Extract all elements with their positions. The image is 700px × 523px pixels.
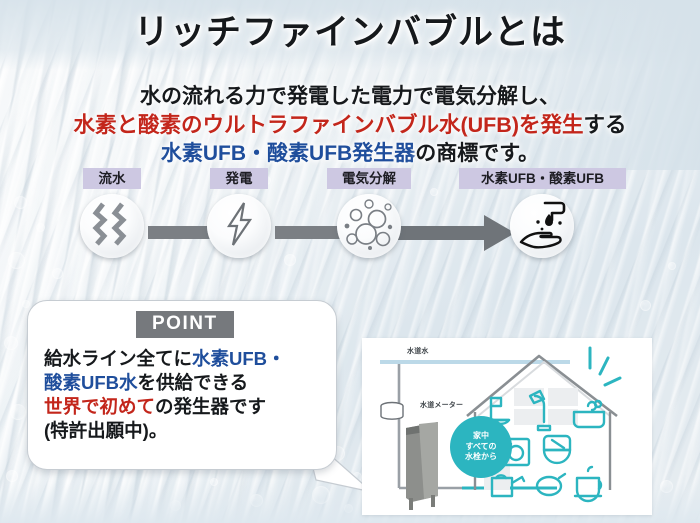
point-line-4-black: (特許出願中)。 — [44, 420, 167, 441]
badge-line-1: 家中 — [473, 431, 489, 442]
point-text: 給水ライン全てに水素UFB・ 酸素UFB水を供給できる 世界で初めての発生器です… — [44, 347, 326, 443]
point-line-2-black: を供給できる — [138, 372, 249, 393]
bathtub-icon — [574, 401, 604, 427]
hand-water-drop-icon — [515, 198, 569, 255]
flow-step-circle-1 — [80, 194, 144, 258]
point-line-1-black: 給水ライン全てに — [44, 348, 192, 369]
lead-line-3-blue: 水素UFB・酸素UFB発生器 — [161, 142, 415, 165]
point-line-3: 世界で初めての発生器です — [44, 395, 326, 419]
window-pane — [548, 388, 578, 406]
flow-step-circle-3 — [337, 194, 401, 258]
flow-step-circle-2 — [207, 194, 271, 258]
window-pane — [514, 409, 544, 425]
point-line-1: 給水ライン全てに水素UFB・ — [44, 347, 326, 371]
flow-step-label-2: 発電 — [210, 168, 268, 189]
coffee-cup-icon — [575, 467, 601, 501]
kettle-icon — [537, 474, 565, 495]
point-line-4: (特許出願中)。 — [44, 419, 326, 443]
point-line-1-blue: 水素UFB・ — [192, 348, 286, 369]
point-line-2-blue: 酸素UFB水 — [44, 372, 138, 393]
page-title: リッチファインバブルとは — [0, 4, 700, 55]
all-faucets-badge: 家中 すべての 水栓から — [450, 416, 512, 478]
point-callout: POINT 給水ライン全てに水素UFB・ 酸素UFB水を供給できる 世界で初めて… — [27, 300, 337, 470]
sparkle-icon — [590, 348, 620, 385]
slide-canvas: リッチファインバブルとは 水の流れる力で発電した電力で電気分解し、 水素と酸素の… — [0, 0, 700, 523]
washbasin-icon — [544, 436, 570, 463]
tap-water-label: 水道水 — [407, 346, 429, 356]
flowing-water-icon — [91, 202, 133, 251]
lead-line-2: 水素と酸素のウルトラファインバブル水(UFB)を発生する — [0, 111, 700, 140]
lightning-bolt-icon — [224, 201, 254, 252]
lead-line-1-text: 水の流れる力で発電した電力で電気分解し、 — [140, 85, 560, 108]
house-diagram: 水道水 水道メーター 家中 すべての 水栓から — [362, 338, 652, 515]
lead-line-2-black: する — [584, 113, 627, 137]
bubbles-icon — [339, 194, 399, 258]
point-tag: POINT — [136, 311, 234, 338]
water-meter-icon — [381, 403, 403, 420]
badge-line-3: 水栓から — [465, 452, 497, 463]
lead-line-3: 水素UFB・酸素UFB発生器の商標です。 — [0, 140, 700, 168]
flow-connector-2 — [275, 226, 345, 239]
lead-line-2-red: 水素と酸素のウルトラファインバブル水(UFB)を発生 — [73, 113, 583, 137]
lead-line-1: 水の流れる力で発電した電力で電気分解し、 — [0, 83, 700, 111]
flow-step-label-3: 電気分解 — [327, 168, 411, 189]
lead-line-3-black: の商標です。 — [415, 142, 539, 165]
flow-step-label-1: 流水 — [83, 168, 141, 189]
flow-arrow-3 — [398, 213, 516, 258]
point-line-3-black: の発生器です — [155, 396, 266, 417]
flow-step-label-4: 水素UFB・酸素UFB — [459, 168, 626, 189]
water-meter-label: 水道メーター — [420, 400, 463, 410]
badge-line-2: すべての — [465, 442, 496, 453]
point-line-2: 酸素UFB水を供給できる — [44, 371, 326, 395]
flow-step-circle-4 — [510, 194, 574, 258]
point-line-3-red: 世界で初めて — [44, 396, 155, 417]
lead-paragraph: 水の流れる力で発電した電力で電気分解し、 水素と酸素のウルトラファインバブル水(… — [0, 83, 700, 167]
house-diagram-svg — [362, 338, 652, 515]
generator-device — [406, 422, 438, 510]
process-flow: 流水 発電 電気分解 — [0, 168, 700, 278]
